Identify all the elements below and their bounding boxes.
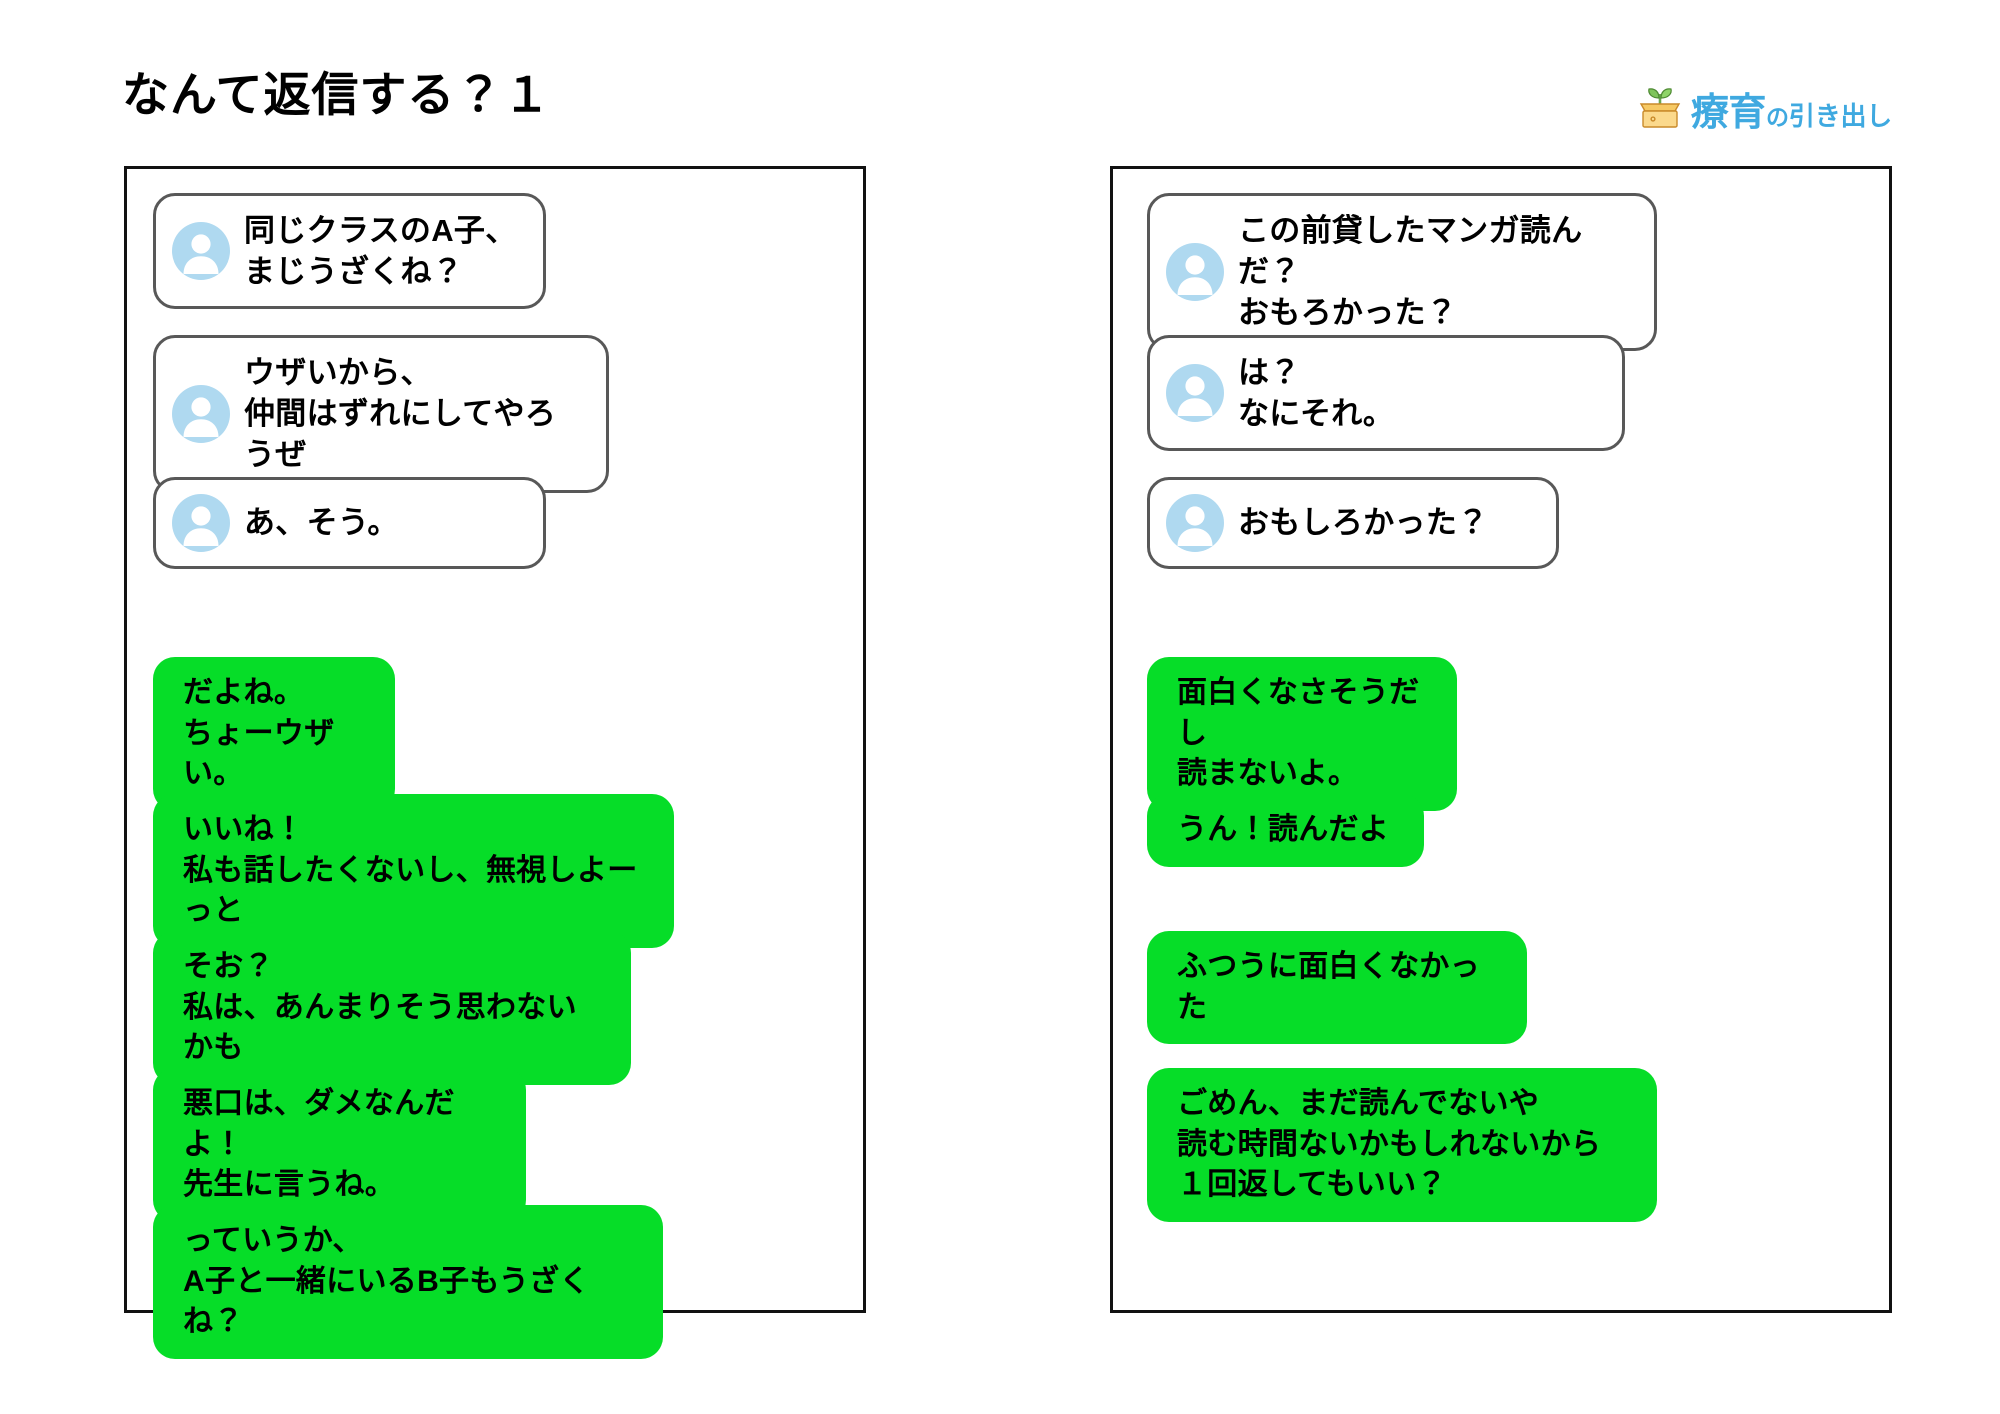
message-text: だよね。 ちょーウザい。 [183,673,365,795]
sent-message-bubble: だよね。 ちょーウザい。 [153,657,395,811]
message-text: 同じクラスのA子、 まじうざくね？ [244,210,517,292]
avatar [172,494,230,552]
received-message-bubble: は？ なにそれ。 [1147,335,1625,451]
received-message-bubble: あ、そう。 [153,477,546,569]
avatar [1166,364,1224,422]
person-avatar-icon [1166,243,1224,301]
brand-sub-text: 引き出し [1789,96,1892,133]
received-message-bubble: この前貸したマンガ読んだ？ おもろかった？ [1147,193,1657,351]
received-message-bubble: 同じクラスのA子、 まじうざくね？ [153,193,546,309]
person-avatar-icon [1166,364,1224,422]
sent-message-bubble: 面白くなさそうだし 読まないよ。 [1147,657,1457,811]
brand-logo: 療育 の 引き出し [1637,82,1892,134]
sent-message-bubble: 悪口は、ダメなんだよ！ 先生に言うね。 [153,1068,526,1222]
sent-message-bubble: ごめん、まだ読んでないや 読む時間ないかもしれないから １回返してもいい？ [1147,1068,1657,1222]
person-avatar-icon [172,494,230,552]
sent-message-bubble: そお？ 私は、あんまりそう思わないかも [153,931,631,1085]
avatar [172,222,230,280]
message-text: うん！読んだよ [1177,810,1389,851]
message-text: 面白くなさそうだし 読まないよ。 [1177,673,1427,795]
avatar [172,385,230,443]
page-header: なんて返信する？１ 療育 の 引き出し [0,0,2000,166]
worksheet-page: なんて返信する？１ 療育 の 引き出し [0,0,2000,1414]
message-text: ごめん、まだ読んでないや 読む時間ないかもしれないから １回返してもいい？ [1177,1084,1601,1206]
brand-particle-text: の [1766,98,1789,132]
chat-thread-2: この前貸したマンガ読んだ？ おもろかった？は？ なにそれ。おもしろかった？面白く… [1113,169,1889,1310]
person-avatar-icon [1166,494,1224,552]
avatar [1166,243,1224,301]
received-message-bubble: おもしろかった？ [1147,477,1559,569]
message-text: 悪口は、ダメなんだよ！ 先生に言うね。 [183,1084,496,1206]
message-text: この前貸したマンガ読んだ？ おもろかった？ [1238,210,1628,334]
brand-main-text: 療育 [1691,81,1766,136]
message-text: ウザいから、 仲間はずれにしてやろうぜ [244,352,580,476]
message-text: おもしろかった？ [1238,502,1488,543]
page-title: なんて返信する？１ [122,56,551,125]
sent-message-bubble: うん！読んだよ [1147,794,1424,867]
scenario-panel-1: 同じクラスのA子、 まじうざくね？ウザいから、 仲間はずれにしてやろうぜあ、そう… [124,166,866,1313]
drawer-sprout-icon [1637,86,1683,130]
person-avatar-icon [172,222,230,280]
brand-text: 療育 の 引き出し [1691,81,1892,136]
message-text: は？ なにそれ。 [1238,352,1394,434]
message-text: っていうか、 A子と一緒にいるB子もうざくね？ [183,1221,633,1343]
message-text: いいね！ 私も話したくないし、無視しよーっと [183,810,644,932]
scenario-panel-2: この前貸したマンガ読んだ？ おもろかった？は？ なにそれ。おもしろかった？面白く… [1110,166,1892,1313]
received-message-bubble: ウザいから、 仲間はずれにしてやろうぜ [153,335,609,493]
message-text: そお？ 私は、あんまりそう思わないかも [183,947,601,1069]
sent-message-bubble: っていうか、 A子と一緒にいるB子もうざくね？ [153,1205,663,1359]
sent-message-bubble: いいね！ 私も話したくないし、無視しよーっと [153,794,674,948]
message-text: あ、そう。 [244,502,399,543]
chat-thread-1: 同じクラスのA子、 まじうざくね？ウザいから、 仲間はずれにしてやろうぜあ、そう… [127,169,863,1310]
avatar [1166,494,1224,552]
person-avatar-icon [172,385,230,443]
message-text: ふつうに面白くなかった [1177,947,1497,1028]
sent-message-bubble: ふつうに面白くなかった [1147,931,1527,1044]
